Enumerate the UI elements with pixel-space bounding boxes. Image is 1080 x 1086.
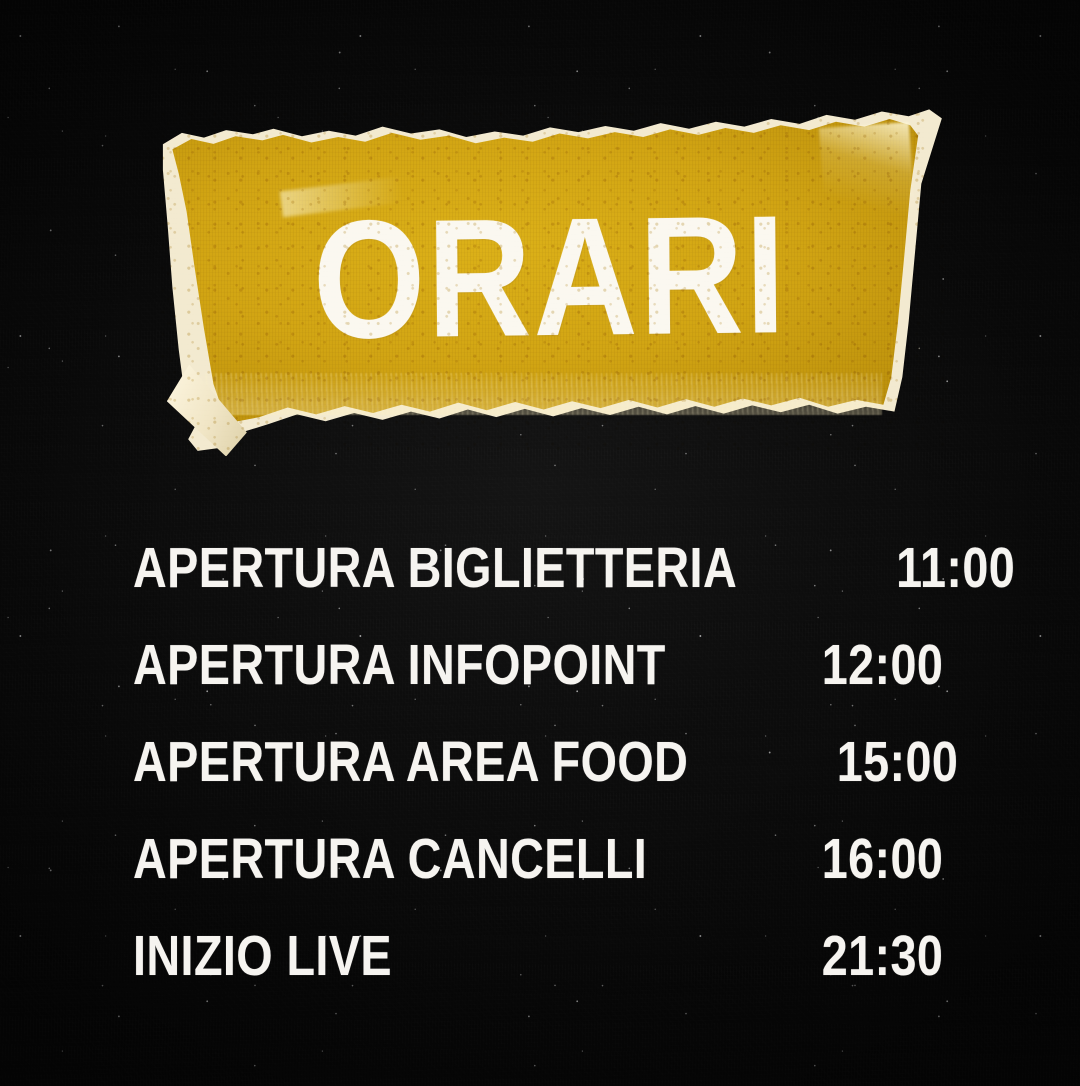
schedule-row-label: APERTURA CANCELLI: [133, 831, 647, 888]
schedule-row-time: 16:00: [821, 831, 943, 888]
schedule-row-label: INIZIO LIVE: [133, 928, 392, 985]
orari-poster: ORARI APERTURA BIGLIETTERIA 11:00 APERTU…: [0, 0, 1080, 1086]
page-title: ORARI: [209, 104, 891, 457]
torn-paper-banner: ORARI: [155, 108, 945, 453]
schedule-row: APERTURA CANCELLI 16:00: [133, 831, 943, 928]
schedule-row-label: APERTURA BIGLIETTERIA: [133, 540, 737, 597]
schedule-row-time: 21:30: [821, 928, 943, 985]
schedule-row: APERTURA AREA FOOD 15:00: [133, 734, 943, 831]
schedule-row-time: 11:00: [896, 540, 1015, 597]
schedule-row: APERTURA INFOPOINT 12:00: [133, 637, 943, 734]
schedule-row-label: APERTURA AREA FOOD: [133, 734, 688, 791]
schedule-row: INIZIO LIVE 21:30: [133, 928, 943, 1025]
schedule-list: APERTURA BIGLIETTERIA 11:00 APERTURA INF…: [133, 540, 943, 1025]
schedule-row: APERTURA BIGLIETTERIA 11:00: [133, 540, 943, 637]
schedule-row-label: APERTURA INFOPOINT: [133, 637, 666, 694]
schedule-row-time: 15:00: [837, 734, 959, 791]
schedule-row-time: 12:00: [821, 637, 943, 694]
